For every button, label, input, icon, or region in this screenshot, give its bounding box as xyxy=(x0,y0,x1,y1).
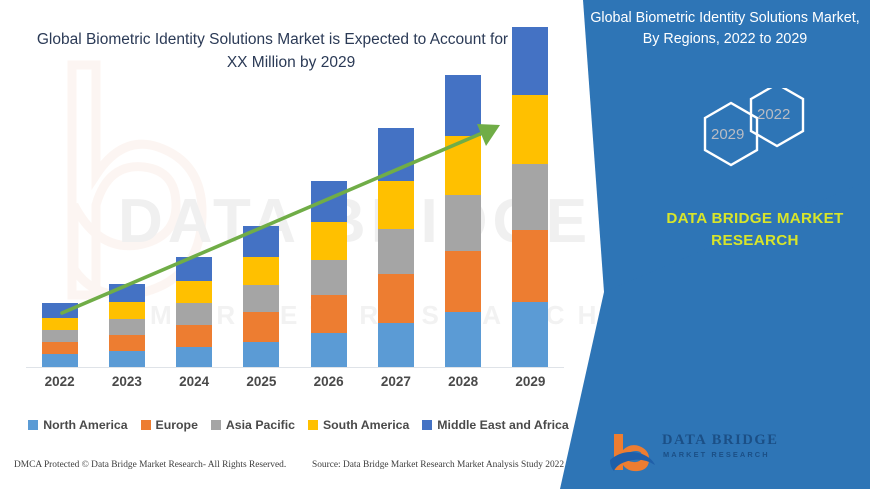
x-label-2025: 2025 xyxy=(226,374,296,389)
x-axis-labels: 20222023202420252026202720282029 xyxy=(26,374,564,398)
logo-mark-icon xyxy=(608,430,658,474)
footer-copyright: DMCA Protected © Data Bridge Market Rese… xyxy=(14,460,286,470)
brand-line-1: DATA BRIDGE MARKET xyxy=(666,210,843,227)
segment-south-america-2029 xyxy=(512,95,548,164)
segment-middle-east-and-africa-2023 xyxy=(109,284,145,302)
x-label-2023: 2023 xyxy=(92,374,162,389)
bar-chart: 20222023202420252026202720282029 xyxy=(0,0,596,400)
legend-item-north-america[interactable]: North America xyxy=(28,418,127,432)
legend-item-asia-pacific[interactable]: Asia Pacific xyxy=(211,418,295,432)
bar-2029 xyxy=(512,27,548,367)
hexagon-group: 2029 2022 xyxy=(665,88,865,198)
segment-middle-east-and-africa-2029 xyxy=(512,27,548,95)
segment-europe-2024 xyxy=(176,325,212,348)
legend-label: South America xyxy=(323,418,409,432)
segment-asia-pacific-2024 xyxy=(176,303,212,324)
brand-line-2: RESEARCH xyxy=(711,232,799,249)
bar-2023 xyxy=(109,284,145,367)
segment-middle-east-and-africa-2028 xyxy=(445,75,481,136)
segment-north-america-2024 xyxy=(176,347,212,367)
legend-label: North America xyxy=(43,418,127,432)
x-label-2028: 2028 xyxy=(428,374,498,389)
segment-europe-2027 xyxy=(378,274,414,323)
segment-south-america-2025 xyxy=(243,257,279,285)
segment-north-america-2029 xyxy=(512,302,548,367)
legend-swatch-icon xyxy=(211,420,221,430)
segment-middle-east-and-africa-2025 xyxy=(243,226,279,257)
segment-south-america-2024 xyxy=(176,281,212,304)
segment-asia-pacific-2028 xyxy=(445,195,481,251)
infographic-root: DATA BRIDGE MARKET RESEARCH Global Biome… xyxy=(0,0,870,489)
segment-europe-2023 xyxy=(109,335,145,352)
bar-2028 xyxy=(445,75,481,367)
segment-south-america-2022 xyxy=(42,318,78,331)
panel-title: Global Biometric Identity Solutions Mark… xyxy=(586,8,864,49)
segment-middle-east-and-africa-2027 xyxy=(378,128,414,180)
footer-source: Source: Data Bridge Market Research Mark… xyxy=(312,460,564,470)
segment-asia-pacific-2025 xyxy=(243,285,279,312)
legend-item-europe[interactable]: Europe xyxy=(141,418,198,432)
segment-south-america-2023 xyxy=(109,302,145,319)
legend-swatch-icon xyxy=(28,420,38,430)
logo-name: DATA BRIDGE xyxy=(662,432,779,449)
segment-north-america-2023 xyxy=(109,351,145,367)
segment-middle-east-and-africa-2022 xyxy=(42,303,78,317)
bars-container xyxy=(26,0,564,367)
legend-item-middle-east-and-africa[interactable]: Middle East and Africa xyxy=(422,418,568,432)
segment-north-america-2027 xyxy=(378,323,414,367)
brand-name-panel: DATA BRIDGE MARKET RESEARCH xyxy=(640,208,870,252)
segment-south-america-2027 xyxy=(378,181,414,229)
legend-label: Asia Pacific xyxy=(226,418,295,432)
x-axis-line xyxy=(26,367,564,368)
hexagon-label-2022: 2022 xyxy=(757,106,790,123)
segment-asia-pacific-2029 xyxy=(512,164,548,230)
bar-2022 xyxy=(42,303,78,367)
bar-2024 xyxy=(176,257,212,367)
segment-north-america-2025 xyxy=(243,342,279,367)
segment-asia-pacific-2022 xyxy=(42,330,78,341)
logo-tagline: MARKET RESEARCH xyxy=(663,450,770,459)
segment-asia-pacific-2026 xyxy=(311,260,347,295)
segment-north-america-2028 xyxy=(445,312,481,367)
company-logo: DATA BRIDGE MARKET RESEARCH xyxy=(608,430,858,476)
bar-2027 xyxy=(378,128,414,367)
segment-europe-2025 xyxy=(243,312,279,342)
segment-europe-2028 xyxy=(445,251,481,312)
segment-middle-east-and-africa-2026 xyxy=(311,181,347,222)
bar-2026 xyxy=(311,181,347,367)
segment-south-america-2028 xyxy=(445,136,481,195)
segment-north-america-2026 xyxy=(311,333,347,367)
x-label-2026: 2026 xyxy=(294,374,364,389)
x-label-2022: 2022 xyxy=(25,374,95,389)
segment-middle-east-and-africa-2024 xyxy=(176,257,212,281)
legend-swatch-icon xyxy=(141,420,151,430)
x-label-2029: 2029 xyxy=(495,374,565,389)
legend-swatch-icon xyxy=(308,420,318,430)
segment-north-america-2022 xyxy=(42,354,78,367)
legend-swatch-icon xyxy=(422,420,432,430)
segment-south-america-2026 xyxy=(311,222,347,260)
hexagon-label-2029: 2029 xyxy=(711,126,744,143)
legend-label: Europe xyxy=(156,418,198,432)
segment-europe-2022 xyxy=(42,342,78,355)
x-label-2024: 2024 xyxy=(159,374,229,389)
segment-europe-2026 xyxy=(311,295,347,333)
segment-europe-2029 xyxy=(512,230,548,302)
segment-asia-pacific-2023 xyxy=(109,319,145,335)
chart-legend: North AmericaEuropeAsia PacificSouth Ame… xyxy=(26,418,571,432)
legend-label: Middle East and Africa xyxy=(437,418,568,432)
segment-asia-pacific-2027 xyxy=(378,229,414,274)
legend-item-south-america[interactable]: South America xyxy=(308,418,409,432)
x-label-2027: 2027 xyxy=(361,374,431,389)
bar-2025 xyxy=(243,226,279,367)
